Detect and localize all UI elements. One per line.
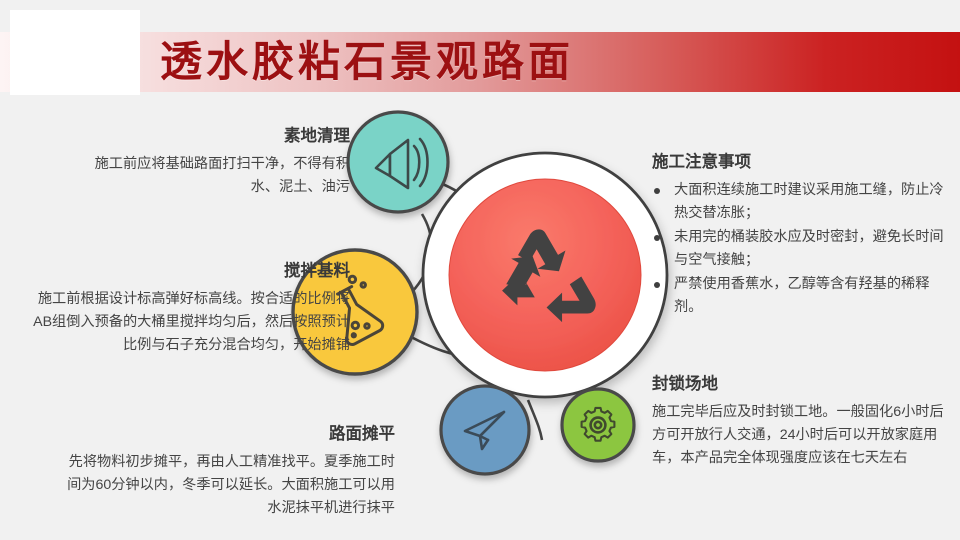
step-block-tanping: 路面摊平 先将物料初步摊平，再由人工精准找平。夏季施工时间为60分钟以内，冬季可… [60,424,395,520]
step-body-sudi: 施工前应将基础路面打扫干净，不得有积水、泥土、油污 [80,153,350,199]
center-node [423,153,667,397]
page-title: 透水胶粘石景观路面 [160,28,574,96]
step-body-fengsuo: 施工完毕后应及时封锁工地。一般固化6小时后方可开放行人交通，24小时后可以开放家… [652,401,952,470]
node-megaphone [348,112,448,212]
step-title-tanping: 路面摊平 [60,424,395,445]
step-title-sudi: 素地清理 [80,126,350,147]
notes-list: 大面积连续施工时建议采用施工缝，防止冷热交替冻胀； 未用完的桶装胶水应及时密封，… [652,179,952,319]
list-item: 严禁使用香蕉水，乙醇等含有羟基的稀释剂。 [652,273,952,319]
step-body-jiaoban: 施工前根据设计标高弹好标高线。按合适的比例将AB组倒入预备的大桶里搅拌均匀后，然… [20,288,350,357]
step-block-sudi: 素地清理 施工前应将基础路面打扫干净，不得有积水、泥土、油污 [80,126,350,199]
step-title-fengsuo: 封锁场地 [652,374,952,395]
step-block-jiaoban: 搅拌基料 施工前根据设计标高弹好标高线。按合适的比例将AB组倒入预备的大桶里搅拌… [20,261,350,357]
step-block-fengsuo: 封锁场地 施工完毕后应及时封锁工地。一般固化6小时后方可开放行人交通，24小时后… [652,374,952,470]
list-item: 未用完的桶装胶水应及时密封，避免长时间与空气接触； [652,226,952,272]
step-body-tanping: 先将物料初步摊平，再由人工精准找平。夏季施工时间为60分钟以内，冬季可以延长。大… [60,451,395,520]
node-gear [562,389,634,461]
step-title-jiaoban: 搅拌基料 [20,261,350,282]
notes-block: 施工注意事项 大面积连续施工时建议采用施工缝，防止冷热交替冻胀； 未用完的桶装胶… [652,152,952,320]
node-paper-plane [441,386,529,474]
banner-white-block [10,10,140,95]
list-item: 大面积连续施工时建议采用施工缝，防止冷热交替冻胀； [652,179,952,225]
notes-title: 施工注意事项 [652,152,952,173]
